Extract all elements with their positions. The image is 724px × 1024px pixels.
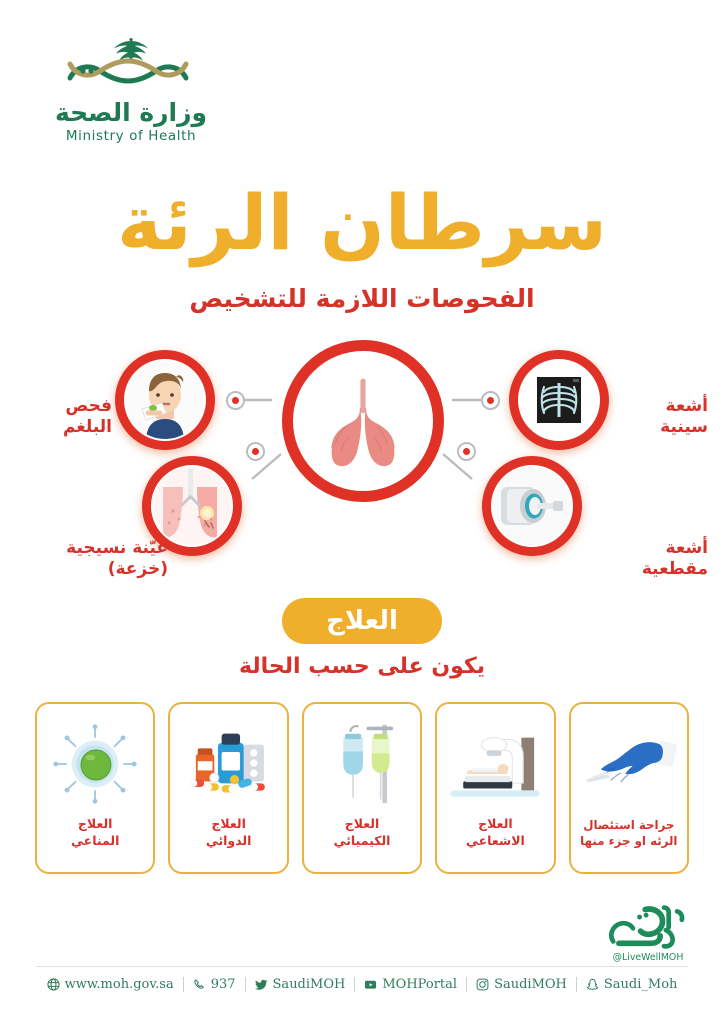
footer-label: SaudiMOH [273, 977, 346, 992]
footer-label: 937 [211, 977, 236, 992]
caption-biopsy: عيّنة نسيجية (خزعة) [8, 538, 168, 579]
node-inner-ct [493, 467, 571, 545]
footer-bar: www.moh.gov.sa 937 SaudiMOH MOHPortal [0, 977, 724, 992]
diagnosis-diagram: فحص البلغم [0, 322, 724, 592]
twitter-icon [255, 978, 268, 991]
footer-item-twitter[interactable]: SaudiMOH [246, 977, 355, 992]
caption-xray: أشعة سينية [612, 396, 708, 437]
footer-item-website[interactable]: www.moh.gov.sa [38, 977, 183, 992]
treatment-card-radiation[interactable]: العلاج الاشعاعي [435, 702, 555, 874]
card-label: العلاج الكيميائي [334, 816, 391, 862]
node-inner-xray [520, 361, 598, 439]
footer-item-instagram[interactable]: SaudiMOH [467, 977, 576, 992]
footer-divider [36, 966, 688, 967]
caption-biopsy-line2: (خزعة) [8, 559, 168, 580]
card-art [445, 718, 545, 810]
treatment-card-drug[interactable]: العلاج الدوائي [168, 702, 288, 874]
connector-dot-ct [457, 442, 476, 461]
treatment-pill: العلاج [282, 598, 442, 644]
treatment-card-chemo[interactable]: العلاج الكيميائي [302, 702, 422, 874]
node-ct [482, 456, 582, 556]
snapchat-icon [586, 978, 599, 991]
caption-sputum: فحص البلغم [22, 396, 112, 437]
node-inner-sputum [126, 361, 204, 439]
logo-english-text: Ministry of Health [36, 128, 226, 144]
chest-xray-icon [520, 361, 598, 439]
node-xray [509, 350, 609, 450]
card-art [322, 718, 402, 810]
card-label-line2: الاشعاعي [466, 833, 525, 850]
caption-biopsy-line1: عيّنة نسيجية [8, 538, 168, 559]
footer-label: SaudiMOH [494, 977, 567, 992]
card-label-line1: العلاج [334, 816, 391, 833]
center-inner [296, 354, 430, 488]
card-label-line2: الدوائي [206, 833, 252, 850]
card-label-line1: العلاج [466, 816, 525, 833]
immune-cell-icon [53, 722, 137, 806]
node-inner-biopsy [153, 467, 231, 545]
campaign-logo: @LiveWellMOH [596, 902, 700, 964]
node-sputum [115, 350, 215, 450]
connector-dot-xray [481, 391, 500, 410]
card-label-line2: الرئه او جزء منها [580, 834, 677, 850]
page-subtitle: الفحوصات اللازمة للتشخيص [0, 284, 724, 313]
caption-ct-line2: مقطعية [580, 559, 708, 580]
caption-xray-line2: سينية [612, 417, 708, 438]
ct-scanner-icon [493, 467, 571, 545]
caption-sputum-line2: البلغم [22, 417, 112, 438]
card-art [183, 718, 275, 810]
card-label-line2: الكيميائي [334, 833, 391, 850]
caption-ct-line1: أشعة [580, 538, 708, 559]
moh-logo: وزارة الصحة Ministry of Health [36, 34, 226, 144]
coughing-person-icon [126, 361, 204, 439]
treatment-card-surgery[interactable]: جراحة استئصال الرئه او جزء منها [569, 702, 689, 874]
treatment-note: يكون على حسب الحالة [0, 654, 724, 679]
footer-item-youtube[interactable]: MOHPortal [355, 977, 466, 992]
campaign-handle-text: @LiveWellMOH [613, 952, 684, 963]
card-label: العلاج المناعي [71, 816, 119, 862]
moh-palm-swords-logo-icon [56, 34, 206, 96]
surgeon-glove-scalpel-icon [579, 727, 679, 801]
lungs-icon [311, 373, 415, 469]
live-well-campaign-icon: @LiveWellMOH [596, 902, 700, 964]
footer-label: MOHPortal [382, 977, 457, 992]
caption-xray-line1: أشعة [612, 396, 708, 417]
card-label: العلاج الاشعاعي [466, 816, 525, 862]
radiotherapy-machine-icon [445, 723, 545, 805]
medicine-bottles-icon [183, 722, 275, 806]
center-node-lungs [282, 340, 444, 502]
card-label-line2: المناعي [71, 833, 119, 850]
iv-drip-icon [322, 721, 402, 807]
page-title: سرطان الرئة [0, 183, 724, 263]
phone-icon [193, 978, 206, 991]
footer-label: www.moh.gov.sa [65, 977, 174, 992]
treatment-cards: العلاج المناعي [35, 702, 689, 874]
poster-root: وزارة الصحة Ministry of Health سرطان الر… [0, 0, 724, 1024]
instagram-icon [476, 978, 489, 991]
card-label-line1: جراحة استئصال [580, 818, 677, 834]
card-label-line1: العلاج [71, 816, 119, 833]
card-art [579, 718, 679, 810]
logo-arabic-text: وزارة الصحة [36, 98, 226, 127]
footer-label: Saudi_Moh [604, 977, 678, 992]
connector-dot-biopsy [246, 442, 265, 461]
youtube-icon [364, 978, 377, 991]
caption-ct: أشعة مقطعية [580, 538, 708, 579]
card-label: جراحة استئصال الرئه او جزء منها [580, 818, 677, 862]
caption-sputum-line1: فحص [22, 396, 112, 417]
card-art [53, 718, 137, 810]
footer-item-snapchat[interactable]: Saudi_Moh [577, 977, 687, 992]
treatment-card-immunotherapy[interactable]: العلاج المناعي [35, 702, 155, 874]
footer-item-phone[interactable]: 937 [184, 977, 245, 992]
card-label-line1: العلاج [206, 816, 252, 833]
connector-dot-sputum [226, 391, 245, 410]
globe-icon [47, 978, 60, 991]
card-label: العلاج الدوائي [206, 816, 252, 862]
lung-biopsy-icon [153, 467, 231, 545]
